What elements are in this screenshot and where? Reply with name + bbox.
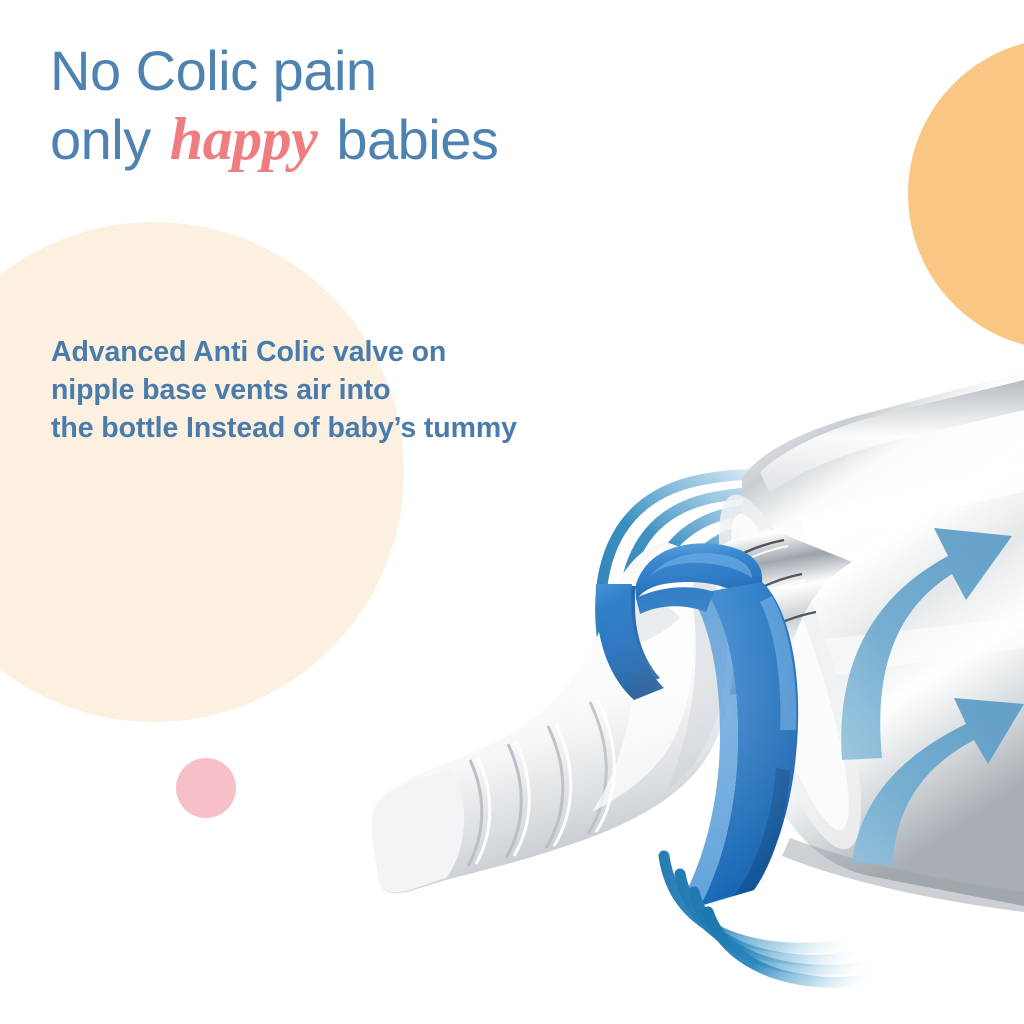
bottle-body — [742, 372, 1024, 912]
page-title: No Colic pain only happy babies — [50, 38, 770, 175]
internal-airflow-arrows — [841, 528, 1024, 866]
headline-line-2-prefix: only — [50, 108, 166, 171]
pink-dot-decoration — [176, 758, 236, 818]
headline-line-2-suffix: babies — [321, 108, 498, 171]
airflow-swooshes-top — [601, 475, 898, 650]
poster-canvas: No Colic pain only happy babies Advanced… — [0, 0, 1024, 1024]
silicone-nipple — [372, 542, 733, 893]
cream-circle-decoration — [0, 222, 404, 722]
feature-description: Advanced Anti Colic valve on nipple base… — [51, 333, 691, 448]
orange-circle-decoration — [908, 38, 1024, 350]
anti-colic-valve-collar — [596, 543, 798, 906]
feature-description-line-1: Advanced Anti Colic valve on — [51, 333, 691, 371]
headline-line-2: only happy babies — [50, 104, 770, 175]
airflow-swooshes-bottom — [664, 856, 918, 982]
feature-description-line-3: the bottle Instead of baby’s tummy — [51, 409, 691, 447]
headline-line-1: No Colic pain — [50, 38, 770, 104]
anti-colic-vent-hole — [669, 650, 707, 695]
bottle-neck-threads — [660, 528, 852, 700]
bottle-mouth — [691, 482, 890, 863]
valve-glow — [510, 480, 890, 920]
feature-description-line-2: nipple base vents air into — [51, 371, 691, 409]
headline-emphasis-happy: happy — [166, 106, 322, 172]
